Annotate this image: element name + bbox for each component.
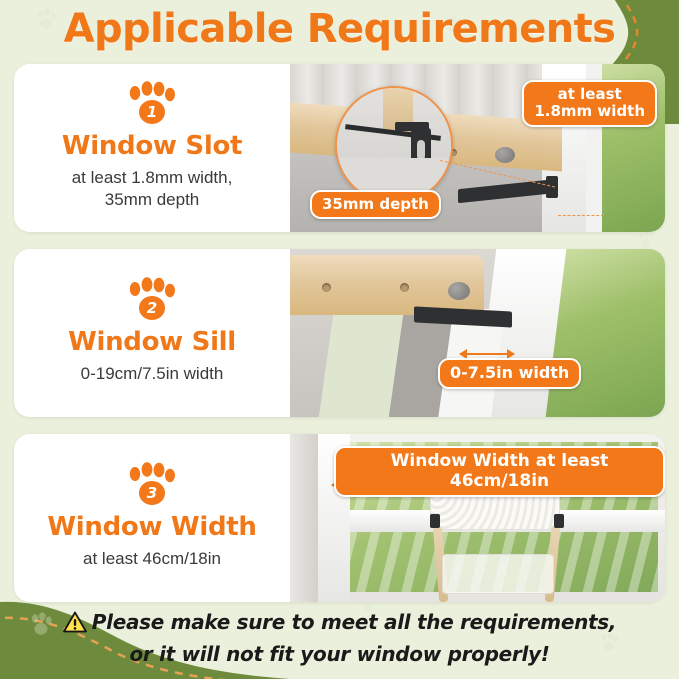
paw-number-badge-2: 2: [125, 277, 179, 323]
screw-knob: [448, 282, 470, 300]
card-title-3: Window Width: [47, 512, 256, 542]
footer-warning: Please make sure to meet all the require…: [0, 608, 679, 669]
footer-line-1-wrapper: Please make sure to meet all the require…: [0, 608, 679, 640]
sill-surface: [319, 315, 403, 417]
infographic-page: Applicable Requirements 1 Window Slot at…: [0, 0, 679, 679]
paw-icon: [125, 277, 179, 323]
card-text-block: 2 Window Sill 0-19cm/7.5in width: [14, 249, 290, 417]
screw-knob: [495, 147, 515, 163]
photo-window-perch: Window Width at least 46cm/18in: [290, 434, 665, 602]
card-text-block: 3 Window Width at least 46cm/18in: [14, 434, 290, 602]
card-subtitle-line2: 35mm depth: [105, 190, 200, 209]
wood-hole: [322, 283, 331, 292]
callout-dashed-box: [558, 146, 604, 216]
footer-line-1: Please make sure to meet all the require…: [92, 610, 616, 634]
requirement-card-window-sill: 2 Window Sill 0-19cm/7.5in width 0-7.5in…: [14, 249, 665, 417]
photo-scene-3: Window Width at least 46cm/18in: [290, 434, 665, 602]
card-subtitle-2: 0-19cm/7.5in width: [81, 363, 224, 385]
card-text-block: 1 Window Slot at least 1.8mm width, 35mm…: [14, 64, 290, 232]
photo-window-slot: at least 1.8mm width 35mm depth: [290, 64, 665, 232]
paw-icon: [125, 462, 179, 508]
card-subtitle-line1: at least 1.8mm width,: [72, 168, 233, 187]
card-title-2: Window Sill: [68, 327, 236, 357]
photo-scene-2: 0-7.5in width: [290, 249, 665, 417]
magnifier-inset: [335, 86, 453, 204]
badge-slot-width: at least 1.8mm width: [522, 80, 657, 127]
requirement-card-window-width: 3 Window Width at least 46cm/18in: [14, 434, 665, 602]
badge-slot-depth: 35mm depth: [310, 190, 441, 219]
card-subtitle-3: at least 46cm/18in: [83, 548, 221, 570]
badge-window-width: Window Width at least 46cm/18in: [334, 446, 665, 497]
card-subtitle-1: at least 1.8mm width, 35mm depth: [72, 167, 233, 212]
paw-number-badge-3: 3: [125, 462, 179, 508]
card-title-1: Window Slot: [62, 131, 242, 161]
warning-triangle-icon: [63, 611, 87, 640]
perch-bracket-right: [554, 514, 564, 528]
wood-hole: [400, 283, 409, 292]
badge-sill-width: 0-7.5in width: [438, 358, 581, 389]
photo-scene-1: at least 1.8mm width 35mm depth: [290, 64, 665, 232]
page-title: Applicable Requirements: [0, 6, 679, 52]
paw-number-badge-1: 1: [125, 81, 179, 127]
footer-line-2: or it will not fit your window properly!: [0, 640, 679, 668]
requirement-card-window-slot: 1 Window Slot at least 1.8mm width, 35mm…: [14, 64, 665, 232]
paw-icon: [125, 81, 179, 127]
curtain: [290, 434, 318, 602]
paw-watermark-icon: [636, 230, 656, 250]
perch-bracket-left: [430, 514, 440, 528]
sill-width-dimension-arrow: [460, 353, 514, 355]
photo-window-sill: 0-7.5in width: [290, 249, 665, 417]
perch-lower-shelf: [442, 554, 554, 594]
